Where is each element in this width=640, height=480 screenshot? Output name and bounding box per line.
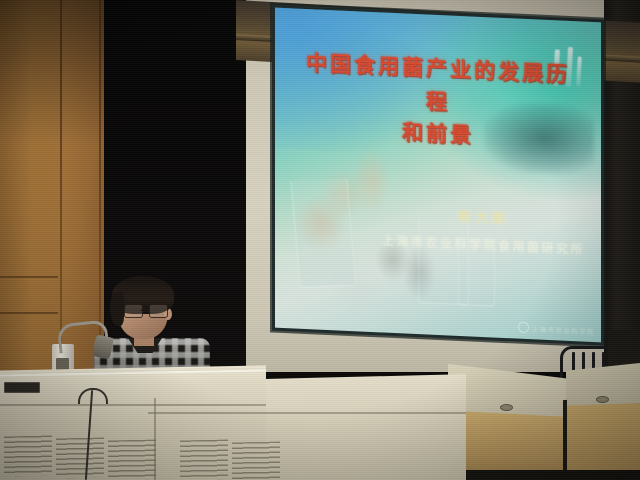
podium-vent bbox=[180, 440, 228, 480]
desk-front-right bbox=[566, 402, 640, 480]
desk-divider bbox=[563, 400, 567, 480]
projected-slide: 中国食用菌产业的发展历程 和前景 鲍大鹏 上海市农业科学院食用菌研究所 上海市农… bbox=[275, 8, 601, 343]
glasses-lens-right bbox=[149, 304, 168, 318]
microphone-base-panel bbox=[56, 358, 69, 370]
wood-panel-line bbox=[0, 312, 58, 314]
slide-title-line-2: 和前景 bbox=[301, 112, 575, 157]
podium-vent bbox=[4, 436, 52, 477]
floor-strip bbox=[440, 470, 640, 480]
glasses-icon bbox=[124, 304, 168, 316]
wood-seam bbox=[60, 0, 62, 378]
presenter-affiliation: 上海市农业科学院食用菌研究所 bbox=[382, 231, 585, 257]
speaker-person bbox=[88, 276, 214, 380]
desk-cable-grommet bbox=[596, 396, 609, 403]
slide-title: 中国食用菌产业的发展历程 和前景 bbox=[301, 47, 575, 157]
podium-vent bbox=[56, 438, 104, 479]
podium-vent bbox=[108, 440, 156, 480]
presenter-name: 鲍大鹏 bbox=[382, 202, 585, 230]
glasses-lens-left bbox=[124, 304, 143, 318]
desk-cable-grommet bbox=[500, 404, 513, 411]
projection-screen: 中国食用菌产业的发展历程 和前景 鲍大鹏 上海市农业科学院食用菌研究所 上海市农… bbox=[272, 4, 604, 345]
lecture-hall-photo: 中国食用菌产业的发展历程 和前景 鲍大鹏 上海市农业科学院食用菌研究所 上海市农… bbox=[0, 0, 640, 480]
wood-panel-line bbox=[0, 276, 58, 278]
slide-title-line-1: 中国食用菌产业的发展历程 bbox=[306, 51, 570, 114]
slide-byline: 鲍大鹏 上海市农业科学院食用菌研究所 bbox=[382, 202, 585, 257]
slide-logo-text: 上海市农业科学院 bbox=[532, 323, 595, 336]
podium-vent bbox=[232, 442, 280, 480]
speaker-hair-side bbox=[110, 292, 124, 326]
slide-text-block: 中国食用菌产业的发展历程 和前景 鲍大鹏 上海市农业科学院食用菌研究所 bbox=[275, 8, 601, 343]
institution-logo-icon bbox=[518, 322, 529, 333]
podium-seam bbox=[148, 412, 466, 414]
podium-nameplate bbox=[4, 382, 40, 393]
podium-seam bbox=[0, 404, 266, 406]
